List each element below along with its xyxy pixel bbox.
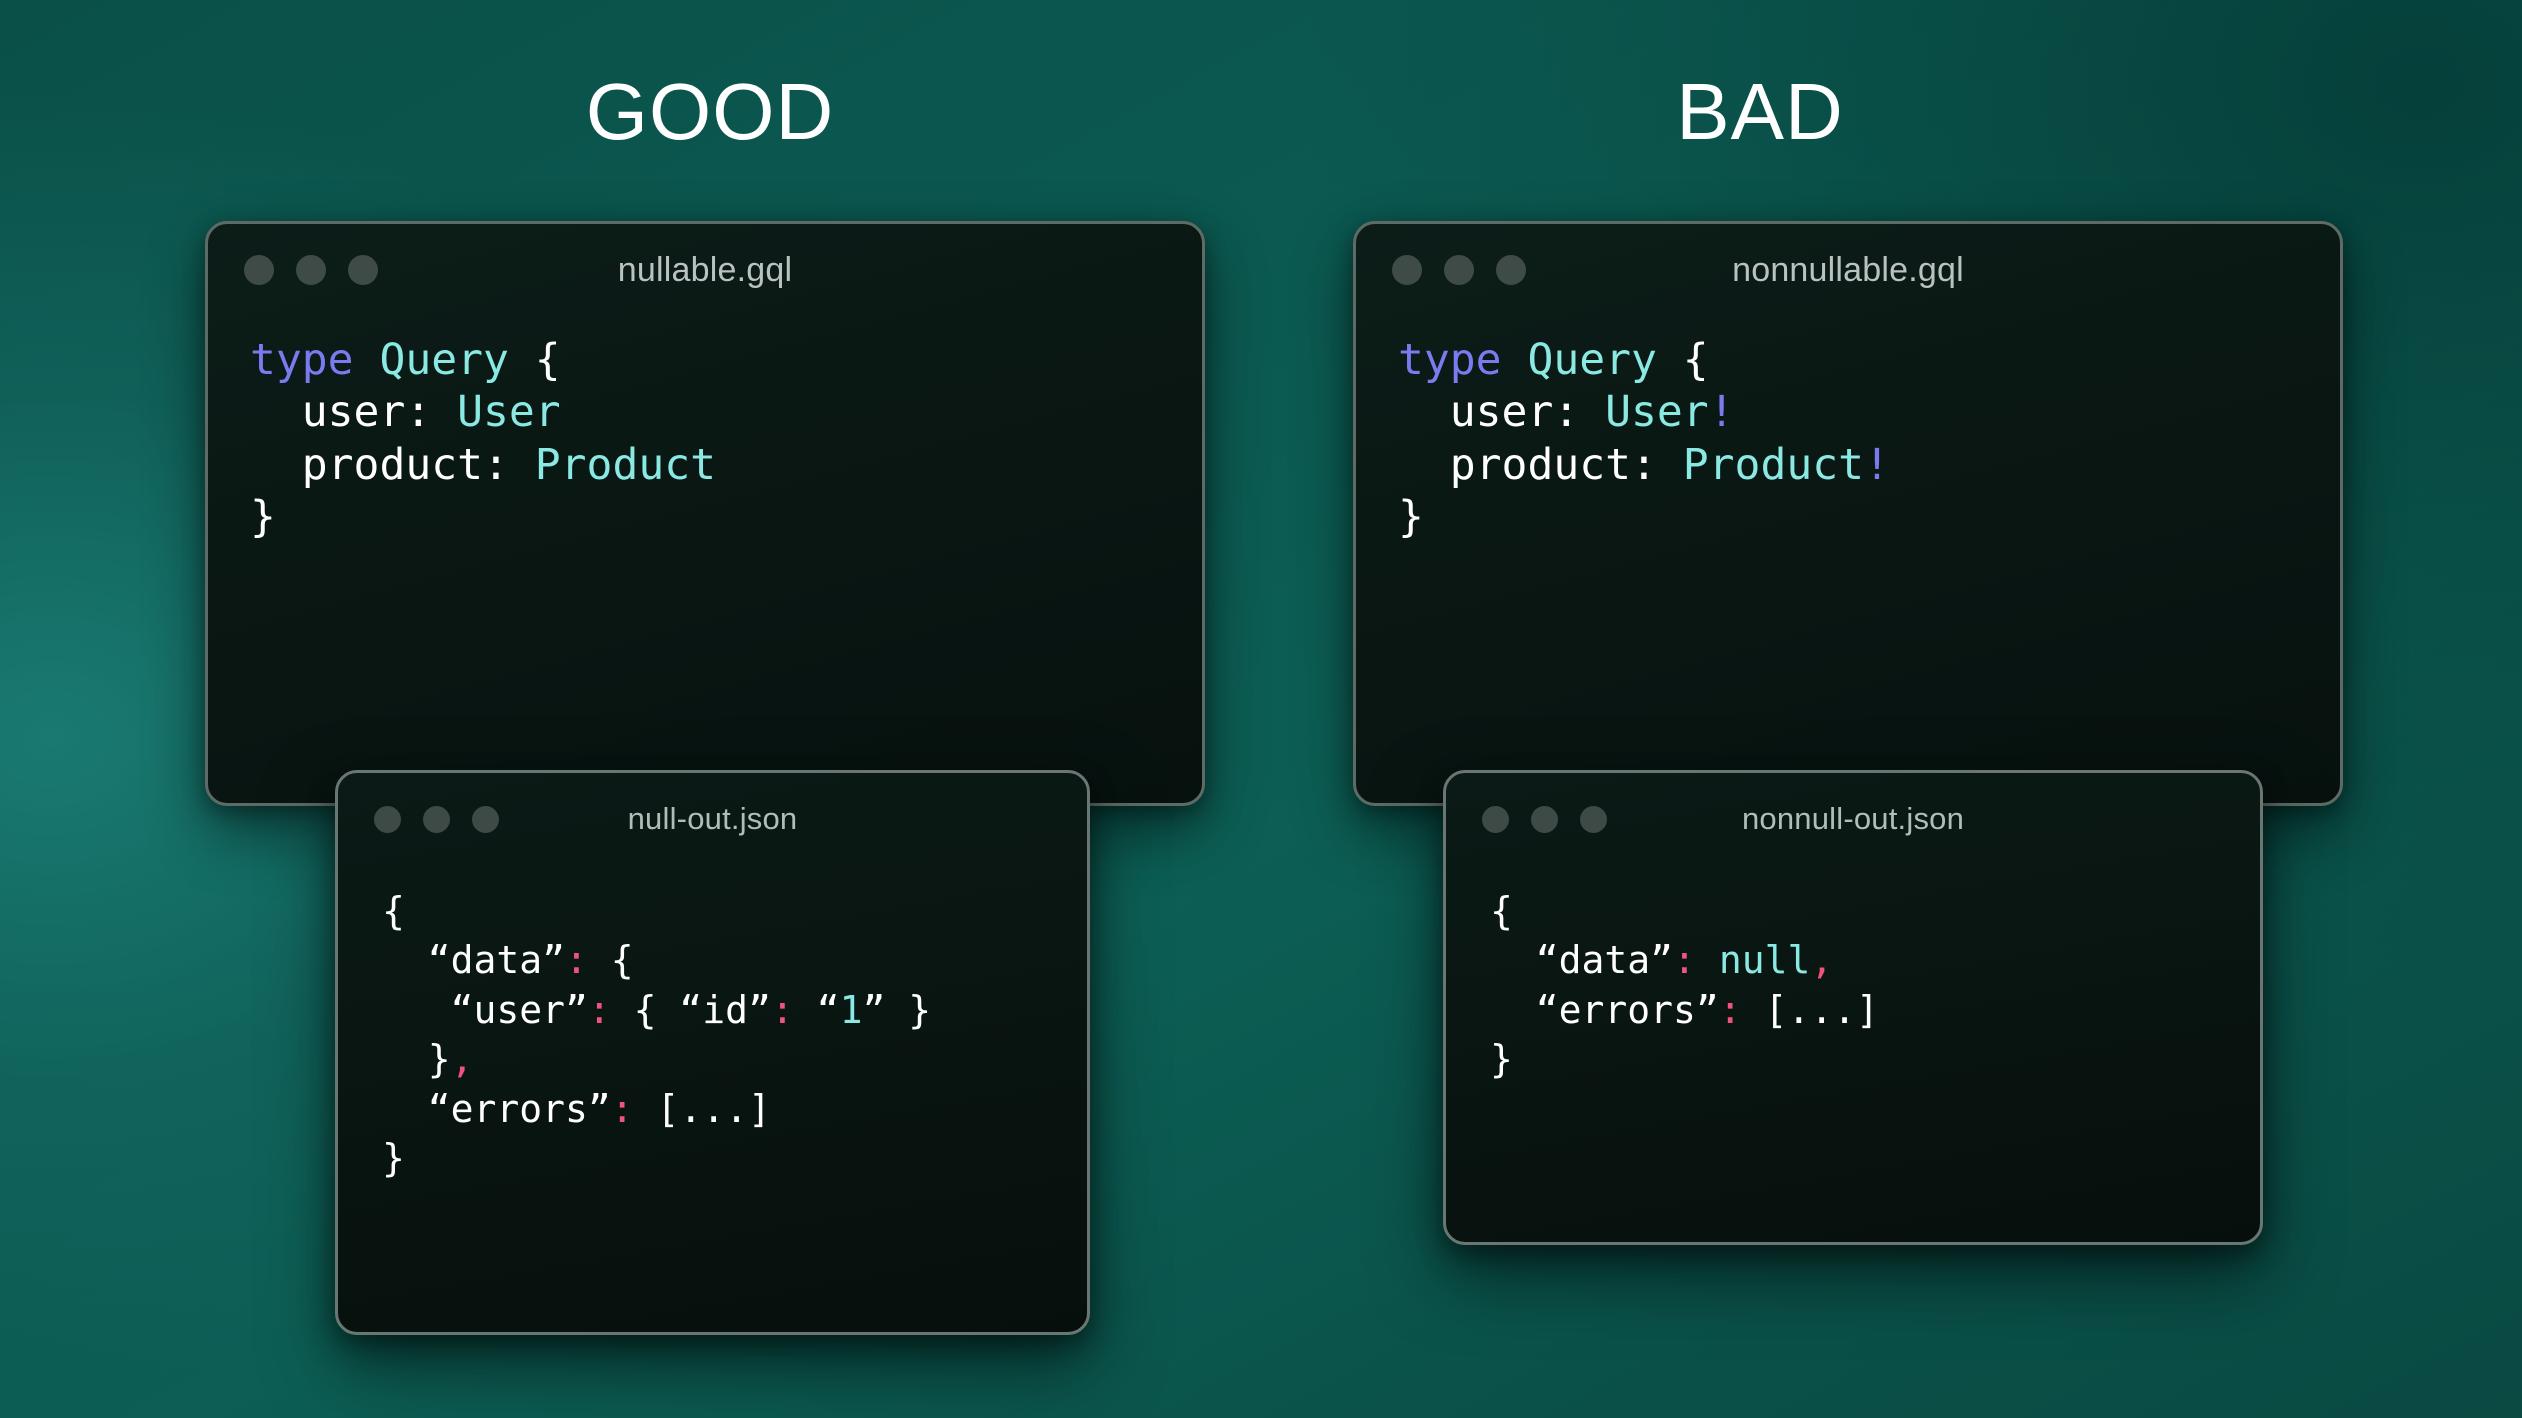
code-body: { “data”: null, “errors”: [...] } <box>1446 865 2260 1085</box>
code-line: “errors”: [...] <box>382 1085 1087 1134</box>
code-token: Product <box>535 440 716 490</box>
code-token: User <box>457 387 561 437</box>
window-controls <box>374 806 499 833</box>
window-controls <box>1482 806 1607 833</box>
code-token: ” } <box>863 988 932 1032</box>
maximize-dot-icon[interactable] <box>348 255 378 285</box>
code-line: “data”: { <box>382 936 1087 985</box>
code-token: “data” <box>1490 938 1673 982</box>
code-token: “ <box>794 988 840 1032</box>
code-line: } <box>1490 1035 2260 1084</box>
code-token <box>1502 335 1528 385</box>
code-token: , <box>1810 938 1833 982</box>
code-window-nonnull-out-json[interactable]: nonnull-out.json { “data”: null, “errors… <box>1443 770 2263 1245</box>
code-token: type <box>250 335 354 385</box>
close-dot-icon[interactable] <box>1482 806 1509 833</box>
code-token: , <box>451 1037 474 1081</box>
code-line: “user”: { “id”: “1” } <box>382 986 1087 1035</box>
close-dot-icon[interactable] <box>244 255 274 285</box>
code-token: “user” <box>382 988 588 1032</box>
code-token: user: <box>250 387 457 437</box>
code-token: : <box>1719 988 1742 1032</box>
close-dot-icon[interactable] <box>374 806 401 833</box>
code-token: { <box>1490 889 1513 933</box>
code-token: } <box>1398 492 1424 542</box>
code-token: : <box>1673 938 1696 982</box>
code-token: User <box>1605 387 1709 437</box>
code-token: product: <box>1398 440 1683 490</box>
code-token: { <box>588 938 634 982</box>
minimize-dot-icon[interactable] <box>296 255 326 285</box>
code-token: user: <box>1398 387 1605 437</box>
code-token: null <box>1719 938 1811 982</box>
code-line: }, <box>382 1035 1087 1084</box>
window-controls <box>1392 255 1526 285</box>
maximize-dot-icon[interactable] <box>1496 255 1526 285</box>
code-token: Query <box>1527 335 1656 385</box>
minimize-dot-icon[interactable] <box>1444 255 1474 285</box>
code-line: “data”: null, <box>1490 936 2260 985</box>
code-line: } <box>250 491 1202 543</box>
code-line: user: User <box>250 386 1202 438</box>
code-token: { <box>509 335 561 385</box>
code-token: } <box>1490 1037 1513 1081</box>
code-line: { <box>382 887 1087 936</box>
window-titlebar: nonnull-out.json <box>1446 773 2260 865</box>
code-token: } <box>382 1136 405 1180</box>
maximize-dot-icon[interactable] <box>1580 806 1607 833</box>
close-dot-icon[interactable] <box>1392 255 1422 285</box>
code-token: “errors” <box>382 1087 611 1131</box>
code-window-null-out-json[interactable]: null-out.json { “data”: { “user”: { “id”… <box>335 770 1090 1335</box>
window-controls <box>244 255 378 285</box>
column-heading-good: GOOD <box>400 72 1020 152</box>
code-token: product: <box>250 440 535 490</box>
comparison-stage: GOOD BAD nullable.gql type Query { user:… <box>0 0 2522 1418</box>
code-line: } <box>382 1134 1087 1183</box>
code-token: : <box>611 1087 634 1131</box>
code-token: : <box>588 988 611 1032</box>
code-line: { <box>1490 887 2260 936</box>
code-token: { <box>382 889 405 933</box>
code-line: type Query { <box>250 334 1202 386</box>
code-token: ! <box>1709 387 1735 437</box>
code-line: product: Product <box>250 439 1202 491</box>
code-token: { <box>1657 335 1709 385</box>
code-token: type <box>1398 335 1502 385</box>
minimize-dot-icon[interactable] <box>423 806 450 833</box>
code-token: { “id” <box>611 988 771 1032</box>
code-token: ! <box>1864 440 1890 490</box>
code-body: { “data”: { “user”: { “id”: “1” } }, “er… <box>338 865 1087 1183</box>
code-token: } <box>382 1037 451 1081</box>
code-line: } <box>1398 491 2340 543</box>
window-titlebar: nonnullable.gql <box>1356 224 2340 316</box>
code-line: product: Product! <box>1398 439 2340 491</box>
code-line: type Query { <box>1398 334 2340 386</box>
code-token: “data” <box>382 938 565 982</box>
column-heading-bad: BAD <box>1450 72 2070 152</box>
code-line: user: User! <box>1398 386 2340 438</box>
code-window-nonnullable-gql[interactable]: nonnullable.gql type Query { user: User!… <box>1353 221 2343 806</box>
code-token: “errors” <box>1490 988 1719 1032</box>
code-token <box>1696 938 1719 982</box>
code-token: Product <box>1683 440 1864 490</box>
code-token: : <box>771 988 794 1032</box>
code-window-nullable-gql[interactable]: nullable.gql type Query { user: User pro… <box>205 221 1205 806</box>
code-body: type Query { user: User! product: Produc… <box>1356 316 2340 544</box>
code-token: } <box>250 492 276 542</box>
code-token: [...] <box>1742 988 1879 1032</box>
window-titlebar: nullable.gql <box>208 224 1202 316</box>
code-line: “errors”: [...] <box>1490 986 2260 1035</box>
code-token <box>354 335 380 385</box>
maximize-dot-icon[interactable] <box>472 806 499 833</box>
minimize-dot-icon[interactable] <box>1531 806 1558 833</box>
code-token: [...] <box>634 1087 771 1131</box>
code-token: 1 <box>840 988 863 1032</box>
window-titlebar: null-out.json <box>338 773 1087 865</box>
code-token: Query <box>379 335 508 385</box>
code-token: : <box>565 938 588 982</box>
code-body: type Query { user: User product: Product… <box>208 316 1202 544</box>
